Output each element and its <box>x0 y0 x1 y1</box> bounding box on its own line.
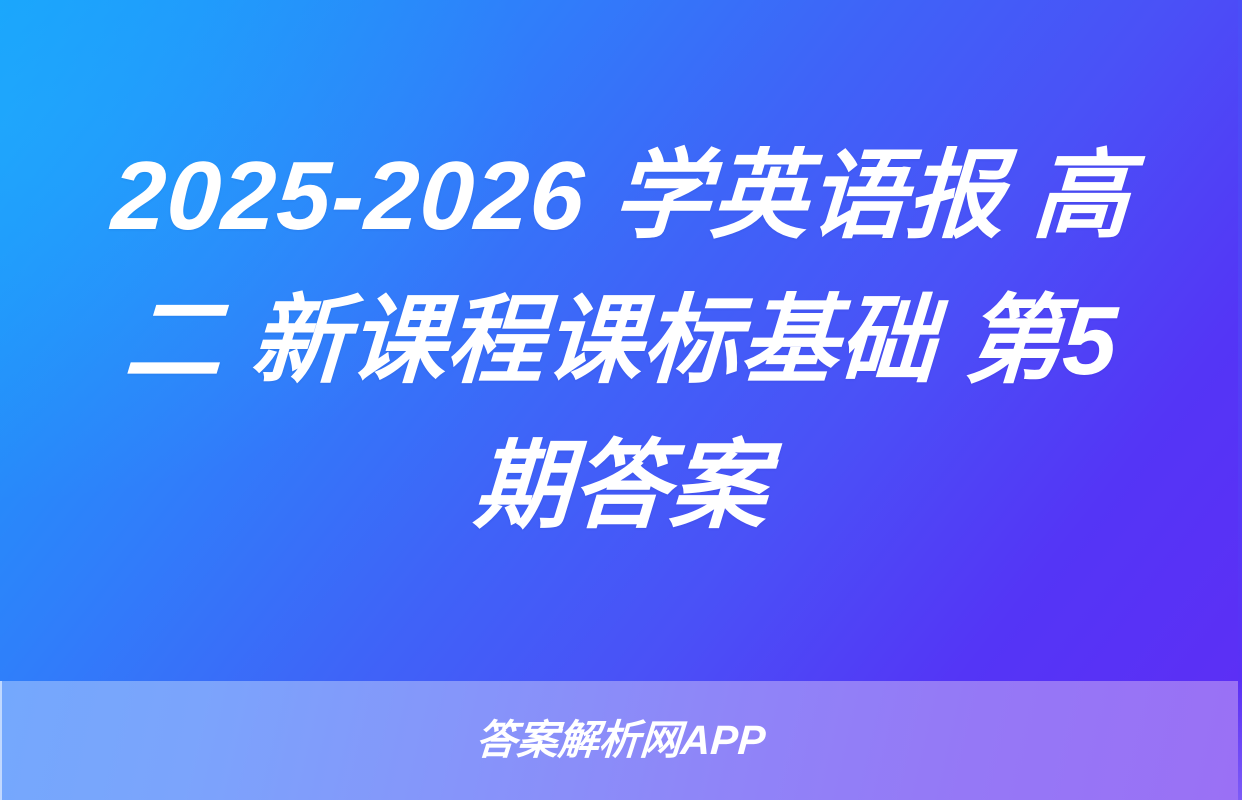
title-block: 2025-2026 学英语报 高 二 新课程课标基础 第5 期答案 <box>0 0 1242 681</box>
title-line-1: 2025-2026 学英语报 高 <box>108 123 1134 268</box>
promo-banner: 2025-2026 学英语报 高 二 新课程课标基础 第5 期答案 答案解析网A… <box>0 0 1242 800</box>
right-edge-strip <box>1238 0 1242 800</box>
title-line-3: 期答案 <box>470 413 772 558</box>
title-line-2: 二 新课程课标基础 第5 <box>121 268 1121 413</box>
footer-band: 答案解析网APP <box>0 681 1242 800</box>
app-brand-label: 答案解析网APP <box>475 720 767 761</box>
